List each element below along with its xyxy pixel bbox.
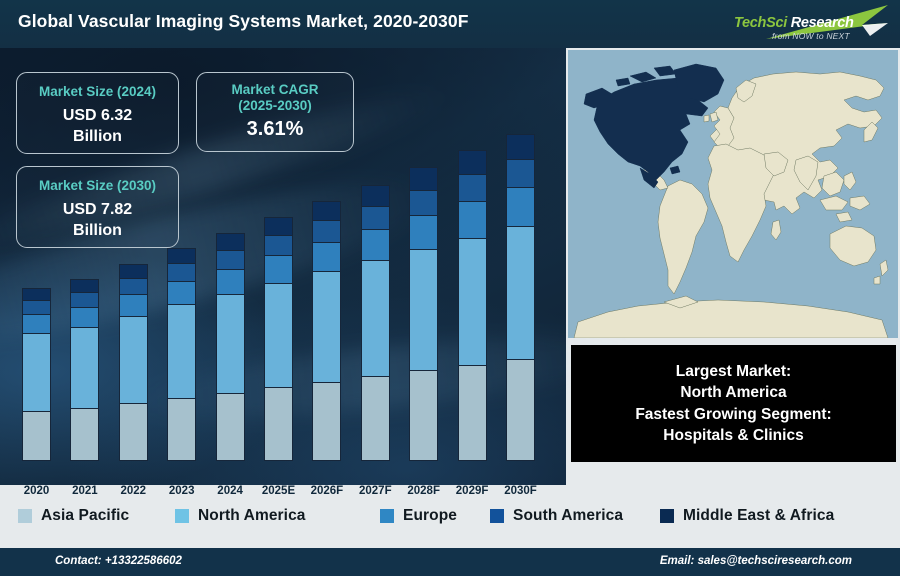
fastest-segment-label: Fastest Growing Segment: xyxy=(635,404,831,425)
stat-value-market-size-2030-line1: USD 7.82 xyxy=(17,201,178,219)
bar-segment xyxy=(409,190,438,215)
page-title: Global Vascular Imaging Systems Market, … xyxy=(18,11,469,32)
largest-market-label: Largest Market: xyxy=(676,361,791,382)
bar-segment xyxy=(70,279,99,292)
stat-value-market-cagr: 3.61% xyxy=(197,118,353,141)
bar-segment xyxy=(216,393,245,461)
bar-segment xyxy=(119,294,148,315)
footer-email: Email: sales@techsciresearch.com xyxy=(660,555,852,567)
bar-segment xyxy=(409,370,438,461)
stat-value-market-size-2024-line1: USD 6.32 xyxy=(17,107,178,125)
bar-segment xyxy=(216,269,245,294)
bar-column xyxy=(458,150,487,461)
bar-segment xyxy=(264,255,293,282)
bar-segment xyxy=(409,249,438,370)
stat-label-market-cagr-line1: Market CAGR xyxy=(197,82,353,98)
bar-segment xyxy=(167,281,196,304)
logo-text-techsci: TechSci xyxy=(734,15,787,31)
bar-segment xyxy=(506,187,535,226)
chart-legend: Asia PacificNorth AmericaEuropeSouth Ame… xyxy=(0,496,900,536)
bar-segment xyxy=(216,233,245,250)
bar-segment xyxy=(70,292,99,307)
legend-label-asia-pacific: Asia Pacific xyxy=(41,507,129,525)
stat-label-market-size-2030: Market Size (2030) xyxy=(17,178,178,194)
bar-segment xyxy=(70,307,99,327)
footer-bar: Contact: +13322586602 Email: sales@techs… xyxy=(0,548,900,576)
stat-value-market-size-2024-line2: Billion xyxy=(17,128,178,146)
legend-label-north-america: North America xyxy=(198,507,306,525)
bar-column xyxy=(22,288,51,461)
bar-segment xyxy=(361,206,390,229)
bar-segment xyxy=(216,250,245,269)
bar-segment xyxy=(119,278,148,294)
legend-label-middle-east-africa: Middle East & Africa xyxy=(683,507,834,525)
bar-segment xyxy=(264,235,293,255)
bar-column xyxy=(361,185,390,461)
bar-segment xyxy=(312,382,341,461)
bar-segment xyxy=(361,260,390,376)
bar-segment xyxy=(264,283,293,388)
bar-segment xyxy=(70,327,99,408)
infographic-root: Global Vascular Imaging Systems Market, … xyxy=(0,0,900,576)
bar-column xyxy=(409,167,438,461)
bar-segment xyxy=(167,248,196,264)
legend-item-asia-pacific[interactable]: Asia Pacific xyxy=(18,507,129,525)
legend-swatch-asia-pacific xyxy=(18,509,32,523)
bar-column xyxy=(70,279,99,461)
legend-item-europe[interactable]: Europe xyxy=(380,507,457,525)
bar-segment xyxy=(506,226,535,358)
bar-segment xyxy=(458,365,487,461)
stat-value-market-size-2030-line2: Billion xyxy=(17,222,178,240)
stat-label-market-size-2024: Market Size (2024) xyxy=(17,84,178,100)
bar-segment xyxy=(264,387,293,461)
bar-segment xyxy=(409,167,438,190)
bar-segment xyxy=(167,304,196,398)
bar-segment xyxy=(22,411,51,461)
header-bar: Global Vascular Imaging Systems Market, … xyxy=(0,0,900,48)
logo-tagline: from NOW to NEXT xyxy=(772,31,850,41)
stat-card-market-cagr: Market CAGR (2025-2030) 3.61% xyxy=(196,72,354,152)
bar-segment xyxy=(361,376,390,461)
bar-segment xyxy=(119,316,148,403)
stat-card-market-size-2030: Market Size (2030) USD 7.82 Billion xyxy=(16,166,179,248)
world-map xyxy=(568,50,898,338)
legend-item-middle-east-africa[interactable]: Middle East & Africa xyxy=(660,507,834,525)
bar-segment xyxy=(119,403,148,461)
bar-segment xyxy=(70,408,99,461)
bar-segment xyxy=(167,263,196,281)
bar-segment xyxy=(458,150,487,174)
bar-segment xyxy=(506,159,535,187)
bar-segment xyxy=(312,271,341,382)
footer-contact: Contact: +13322586602 xyxy=(55,555,182,567)
bar-segment xyxy=(361,185,390,206)
bar-column xyxy=(312,201,341,461)
bar-segment xyxy=(22,300,51,314)
bar-segment xyxy=(506,134,535,160)
bar-segment xyxy=(312,220,341,242)
bar-column xyxy=(506,134,535,461)
stat-card-market-size-2024: Market Size (2024) USD 6.32 Billion xyxy=(16,72,179,154)
world-map-svg xyxy=(568,50,898,338)
legend-item-south-america[interactable]: South America xyxy=(490,507,623,525)
bar-segment xyxy=(264,217,293,235)
bar-segment xyxy=(22,314,51,333)
legend-swatch-europe xyxy=(380,509,394,523)
bar-segment xyxy=(458,201,487,238)
bar-segment xyxy=(312,242,341,271)
fastest-segment-value: Hospitals & Clinics xyxy=(663,425,803,446)
bar-segment xyxy=(506,359,535,461)
bar-segment xyxy=(119,264,148,278)
legend-label-europe: Europe xyxy=(403,507,457,525)
bar-segment xyxy=(458,238,487,365)
bar-column xyxy=(216,233,245,461)
bar-segment xyxy=(22,333,51,412)
bar-segment xyxy=(458,174,487,200)
bar-column xyxy=(264,217,293,461)
bar-segment xyxy=(216,294,245,393)
legend-item-north-america[interactable]: North America xyxy=(175,507,306,525)
stat-label-market-cagr-line2: (2025-2030) xyxy=(197,98,353,114)
legend-swatch-north-america xyxy=(175,509,189,523)
bar-segment xyxy=(22,288,51,301)
bar-column xyxy=(167,248,196,461)
bar-segment xyxy=(167,398,196,461)
logo-wordmark: TechSci Research xyxy=(734,15,854,31)
legend-swatch-middle-east-africa xyxy=(660,509,674,523)
bar-segment xyxy=(409,215,438,249)
bar-segment xyxy=(312,201,341,220)
highlights-box: Largest Market: North America Fastest Gr… xyxy=(571,345,896,462)
techsci-logo: TechSci Research from NOW to NEXT xyxy=(714,2,894,46)
legend-label-south-america: South America xyxy=(513,507,623,525)
logo-text-research: Research xyxy=(787,15,854,31)
legend-swatch-south-america xyxy=(490,509,504,523)
bar-column xyxy=(119,264,148,461)
largest-market-value: North America xyxy=(680,382,786,403)
bar-segment xyxy=(361,229,390,261)
